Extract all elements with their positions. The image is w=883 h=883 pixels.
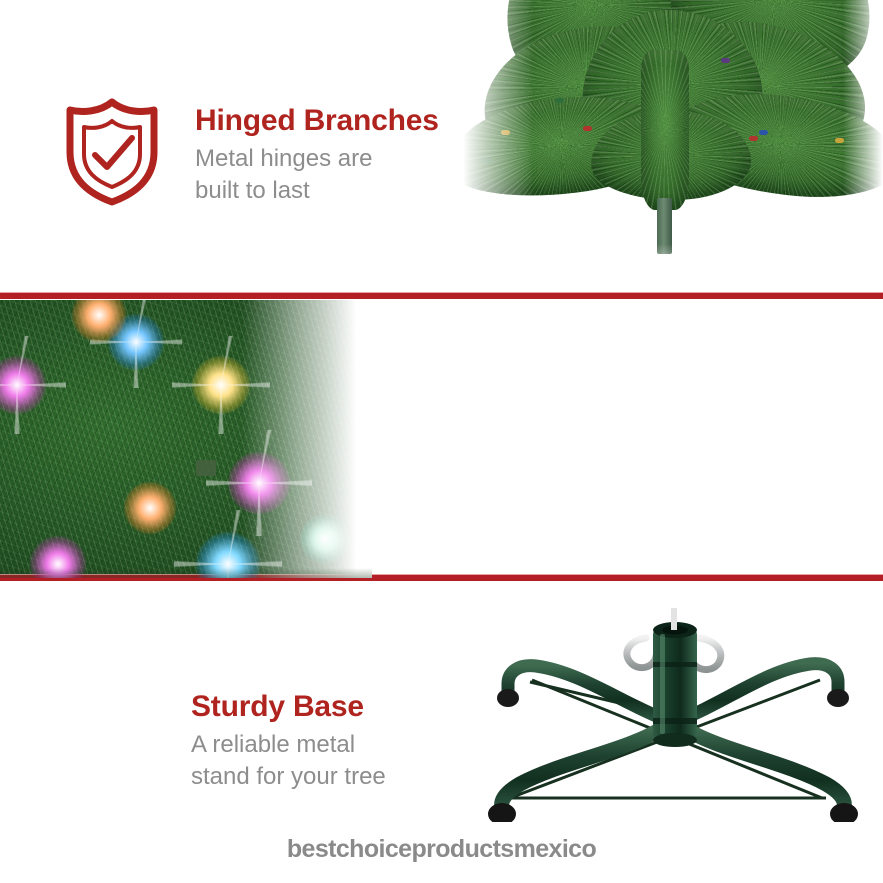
feature-panel-pvc-tips: PVC Tips Flame-retardant and easy to flu… (0, 300, 883, 578)
feature-text-sturdy-base: Sturdy Base A reliable metal stand for y… (191, 690, 386, 793)
tree-stand-photo (470, 602, 883, 822)
lit-tree-photo (0, 300, 372, 578)
footer-watermark: bestchoiceproductsmexico (0, 835, 883, 864)
feature-description-line: Metal hinges are (195, 143, 439, 175)
feature-description-line: A reliable metal (191, 729, 386, 761)
feature-text-hinged-branches: Hinged Branches Metal hinges are built t… (195, 104, 439, 207)
feature-description-line: built to last (195, 175, 439, 207)
feature-title: Sturdy Base (191, 690, 386, 723)
feature-title: Hinged Branches (195, 104, 439, 137)
branch-photo (463, 0, 883, 290)
feature-description: A reliable metal stand for your tree (191, 729, 386, 793)
feature-description-line: stand for your tree (191, 761, 386, 793)
product-feature-infographic: Hinged Branches Metal hinges are built t… (0, 0, 883, 883)
feature-panel-hinged-branches: Hinged Branches Metal hinges are built t… (0, 0, 883, 296)
feature-description: Metal hinges are built to last (195, 143, 439, 207)
shield-check-icon (60, 96, 164, 208)
section-divider (0, 292, 883, 299)
